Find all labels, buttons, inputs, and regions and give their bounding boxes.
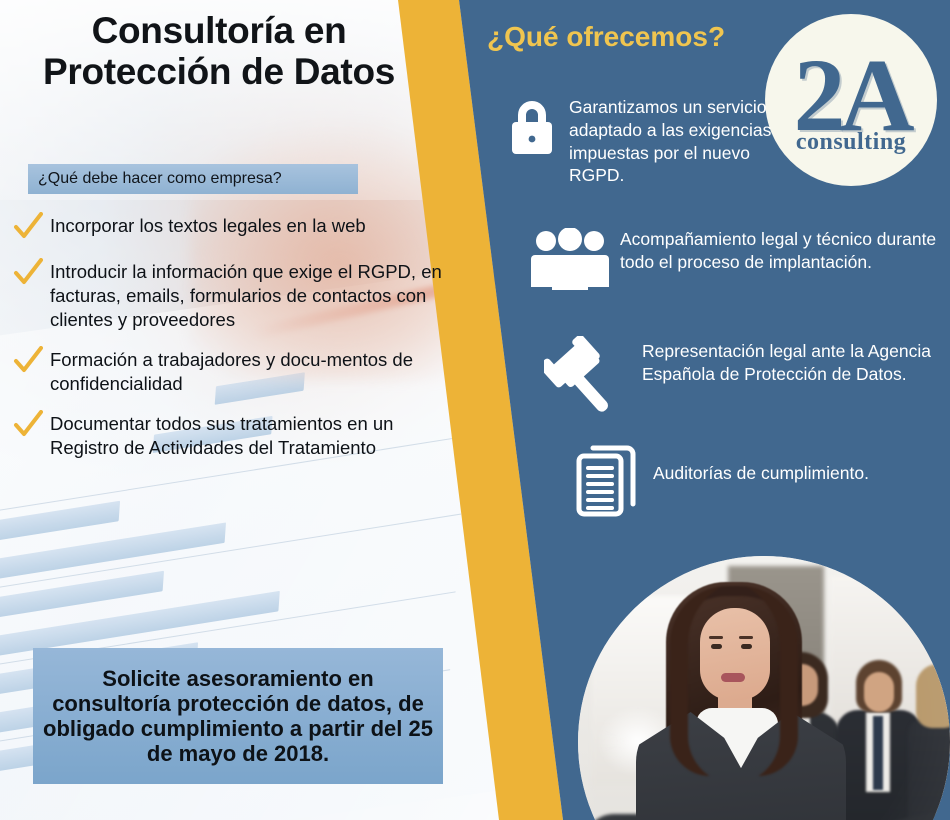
offer-item-audits: Auditorías de cumplimiento.	[563, 444, 950, 518]
people-icon	[520, 228, 620, 290]
offer-item-representation: Representación legal ante la Agencia Esp…	[528, 336, 948, 414]
business-team-photo	[578, 556, 950, 820]
offers-heading: ¿Qué ofrecemos?	[487, 21, 725, 53]
right-column: ¿Qué ofrecemos? 2A consulting Garantizam…	[0, 0, 950, 820]
lock-icon	[495, 96, 569, 187]
logo-mark: 2A	[793, 50, 908, 142]
infographic-poster: Consultoría en Protección de Datos ¿Qué …	[0, 0, 950, 820]
logo-wordmark: consulting	[796, 129, 906, 156]
offer-item-guarantee: Garantizamos un servicio adaptado a las …	[495, 96, 795, 187]
offer-item-label: Acompañamiento legal y técnico durante t…	[620, 228, 940, 290]
documents-icon	[563, 444, 653, 518]
gavel-icon	[528, 336, 642, 414]
offer-item-label: Representación legal ante la Agencia Esp…	[642, 336, 948, 414]
offer-item-label: Garantizamos un servicio adaptado a las …	[569, 96, 795, 187]
offer-item-support: Acompañamiento legal y técnico durante t…	[520, 228, 940, 290]
offer-item-label: Auditorías de cumplimiento.	[653, 444, 869, 518]
